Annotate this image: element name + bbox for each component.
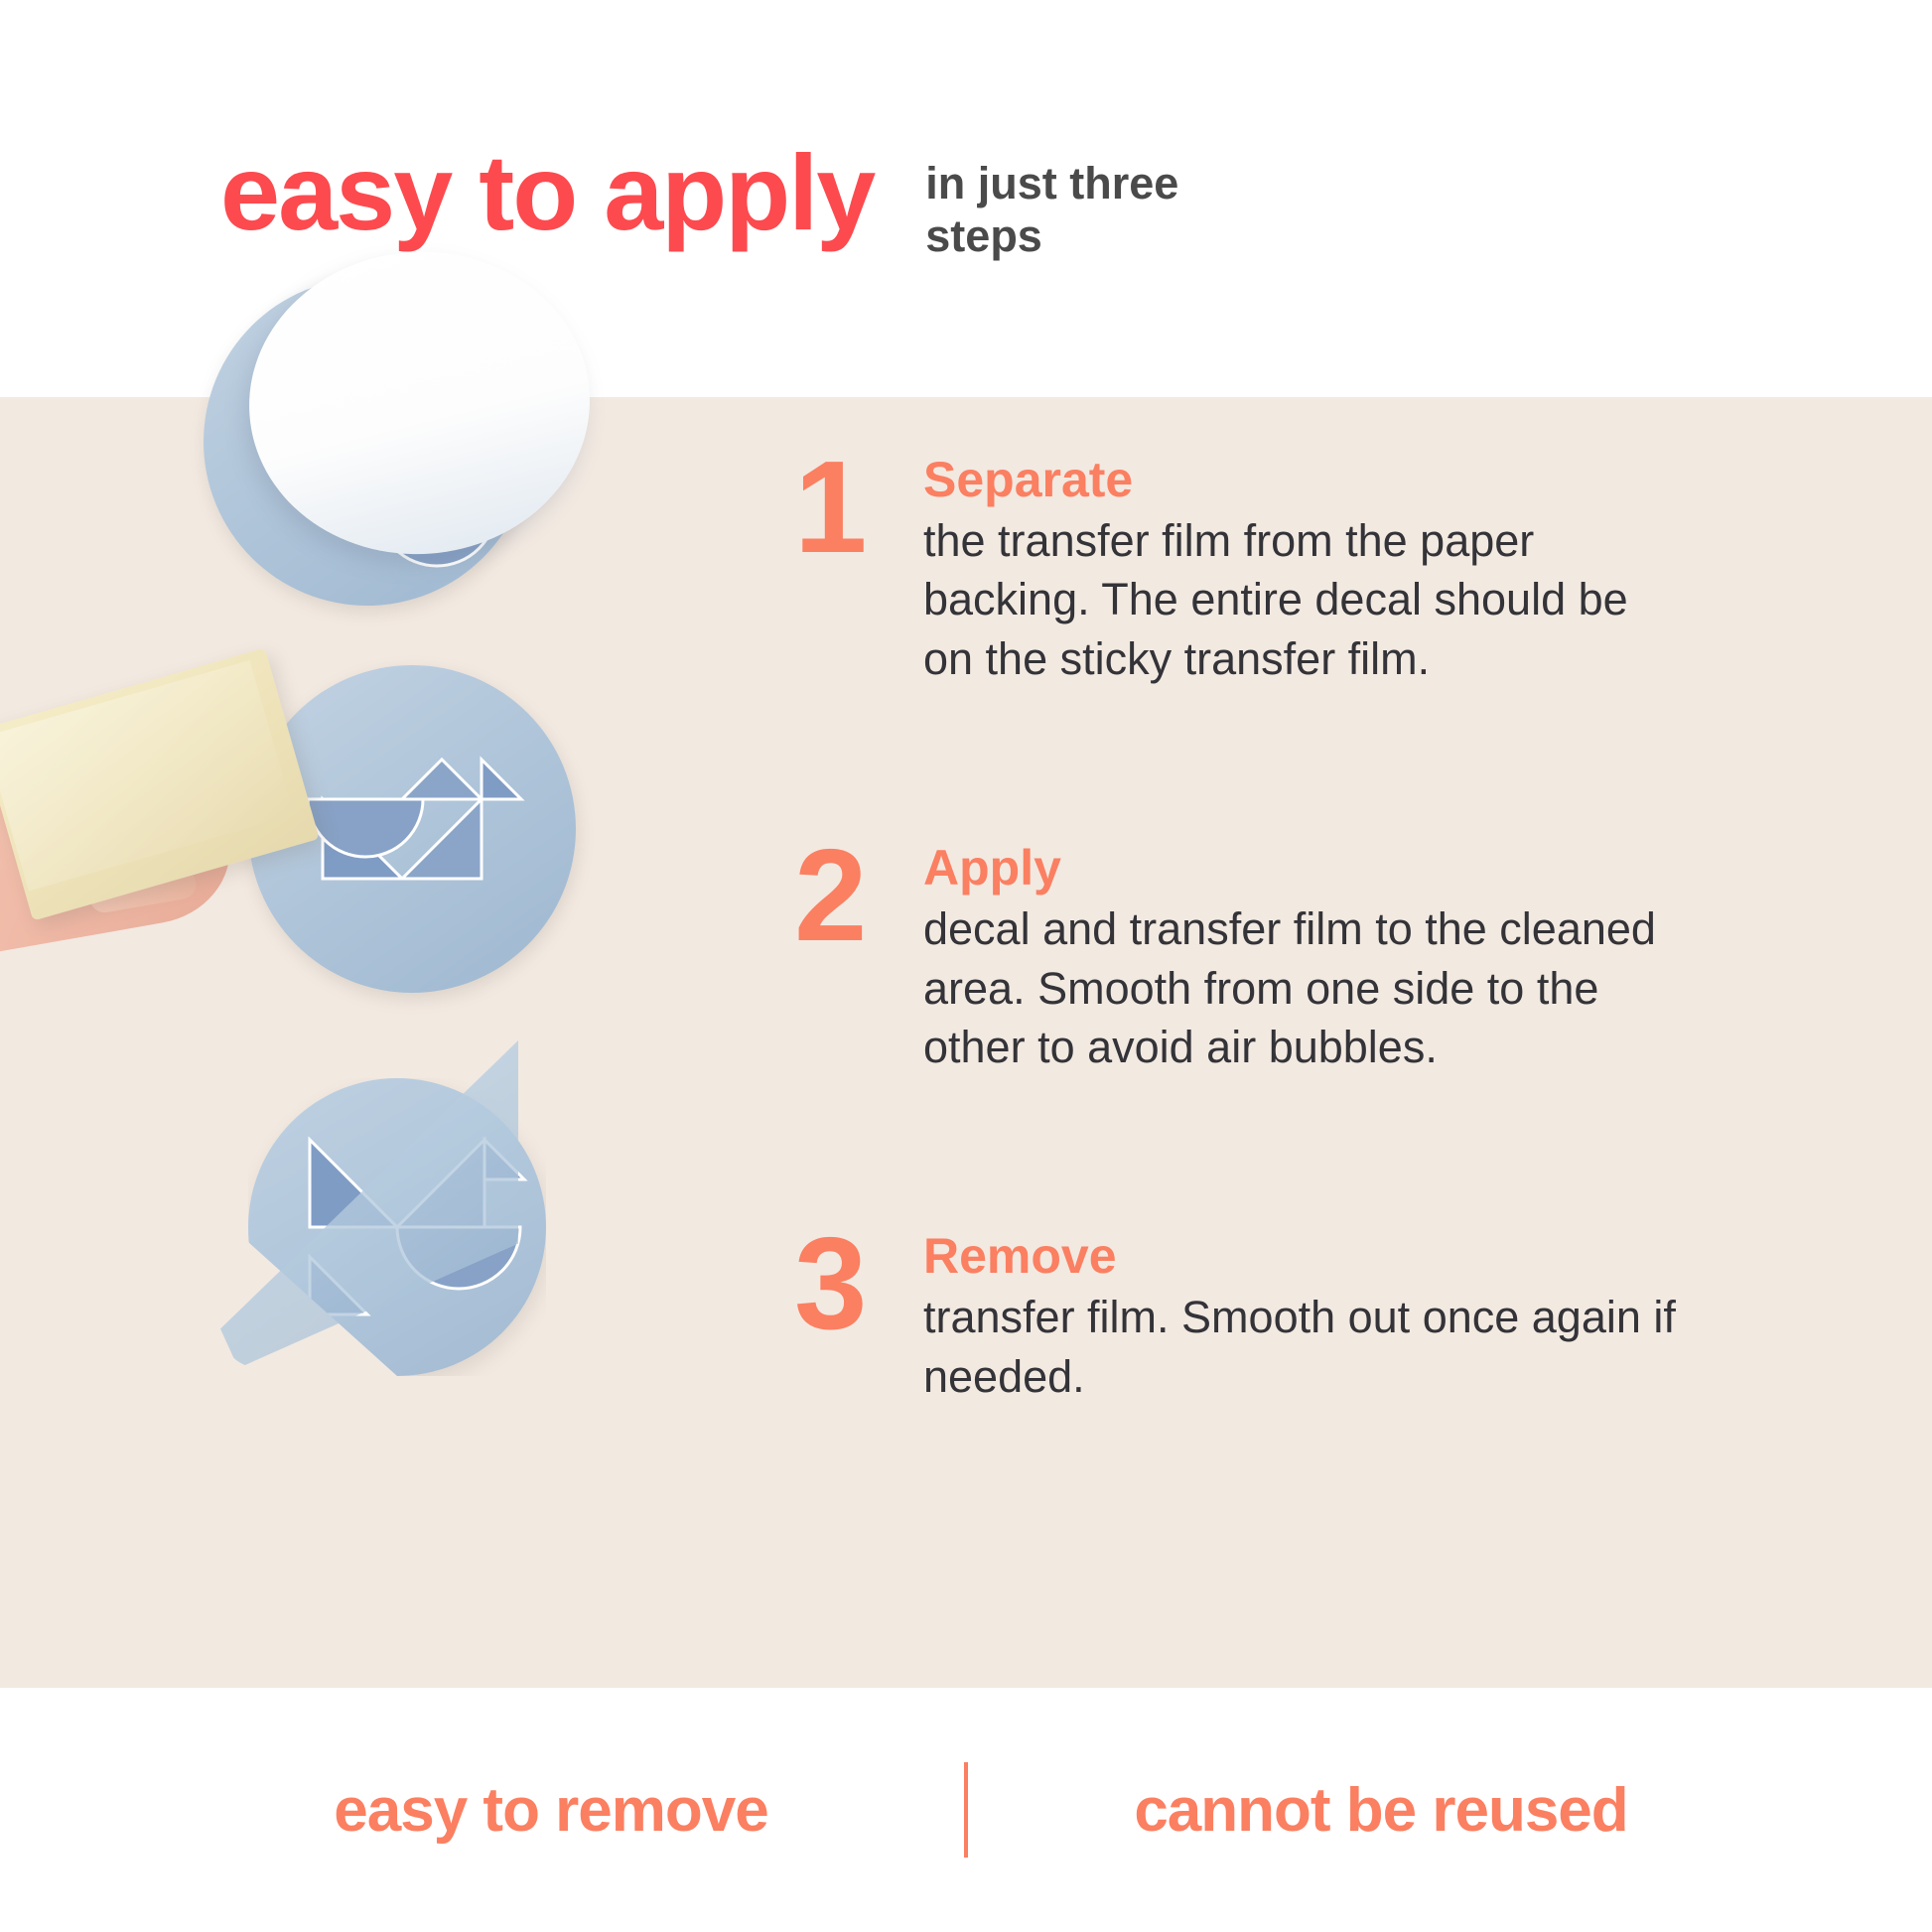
page-subtitle: in just three steps [925,139,1283,262]
cloth-icon [0,648,320,921]
hand-with-cloth-icon [0,675,357,993]
footer-divider [964,1762,968,1858]
step-content: Separate the transfer film from the pape… [923,447,1688,688]
steps-list: 1 Separate the transfer film from the pa… [794,447,1688,1406]
footer-cannot-be-reused: cannot be reused [1004,1775,1758,1846]
step-item: 2 Apply decal and transfer film to the c… [794,835,1688,1076]
illustration-column [0,268,616,1420]
step-number: 3 [794,1223,886,1343]
step-number: 1 [794,447,886,567]
step-title: Separate [923,453,1688,507]
illustration-separate [204,278,531,606]
step-number: 2 [794,835,886,955]
step-title: Remove [923,1229,1688,1284]
step-content: Remove transfer film. Smooth out once ag… [923,1223,1688,1406]
step-item: 1 Separate the transfer film from the pa… [794,447,1688,688]
step-content: Apply decal and transfer film to the cle… [923,835,1688,1076]
step-description: decal and transfer film to the cleaned a… [923,899,1688,1076]
footer-easy-to-remove: easy to remove [174,1775,928,1846]
step-description: transfer film. Smooth out once again if … [923,1288,1688,1406]
illustration-remove [228,1052,566,1380]
footer: easy to remove cannot be reused [0,1688,1932,1932]
step-title: Apply [923,841,1688,896]
header-inner: easy to apply in just three steps [220,139,1283,262]
step-description: the transfer film from the paper backing… [923,511,1688,688]
step-item: 3 Remove transfer film. Smooth out once … [794,1223,1688,1406]
page-title: easy to apply [220,139,874,246]
